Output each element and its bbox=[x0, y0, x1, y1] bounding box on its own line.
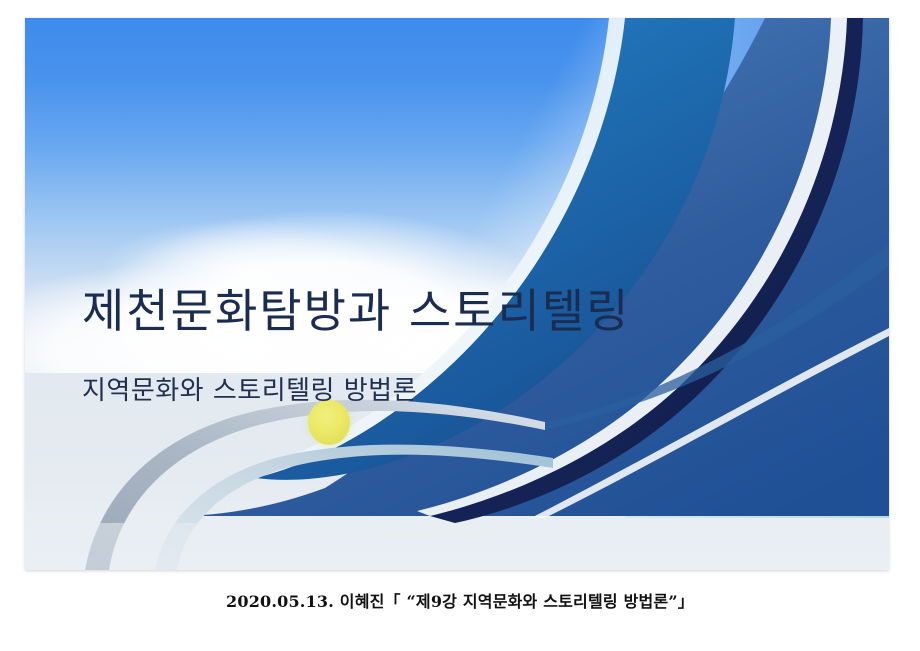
slide-subtitle: 지역문화와 스토리텔링 방법론 bbox=[82, 370, 417, 407]
slide-bottom-band bbox=[25, 523, 889, 570]
slide-title: 제천문화탐방과 스토리텔링 bbox=[82, 284, 630, 338]
page-root: 제천문화탐방과 스토리텔링 지역문화와 스토리텔링 방법론 2020.05.13… bbox=[0, 0, 920, 651]
slide-caption: 2020.05.13. 이혜진「 “제9강 지역문화와 스토리텔링 방법론”」 bbox=[0, 588, 920, 612]
presentation-slide: 제천문화탐방과 스토리텔링 지역문화와 스토리텔링 방법론 bbox=[25, 18, 889, 570]
